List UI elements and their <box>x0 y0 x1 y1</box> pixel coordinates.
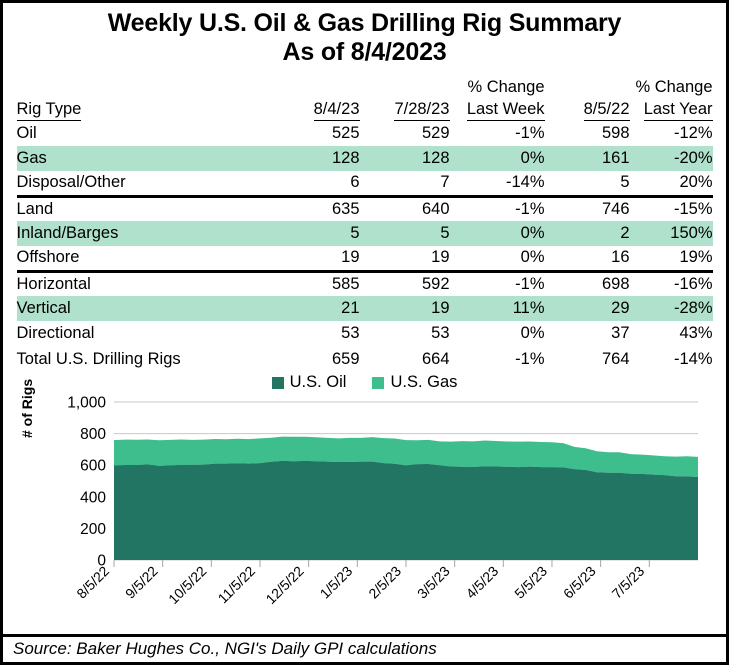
cell-label: Offshore <box>17 246 270 271</box>
chart-x-tick-label: 6/5/23 <box>560 563 599 602</box>
table-row: Horizontal585592-1%698-16% <box>17 271 713 296</box>
cell-chg-week: 0% <box>450 146 545 171</box>
header-date-current: 8/4/23 <box>270 97 360 121</box>
legend-label-oil: U.S. Oil <box>290 373 347 392</box>
cell-chg-week: 0% <box>450 246 545 271</box>
cell-label: Oil <box>17 121 270 146</box>
chart-x-tick-label: 5/5/23 <box>511 563 550 602</box>
cell-chg-week: 0% <box>450 221 545 246</box>
cell-label: Gas <box>17 146 270 171</box>
table-row: Vertical211911%29-28% <box>17 296 713 321</box>
chart-y-tick-label: 400 <box>80 489 106 506</box>
cell-chg-year: -14% <box>630 346 713 373</box>
header-top-pct-change-week: % Change <box>450 75 545 97</box>
chart-y-tick-label: 800 <box>80 426 106 443</box>
cell-cur: 128 <box>270 146 360 171</box>
cell-cur: 21 <box>270 296 360 321</box>
cell-label: Vertical <box>17 296 270 321</box>
header-date-previous: 7/28/23 <box>360 97 450 121</box>
header-top-blank-1 <box>17 75 270 97</box>
cell-year-ago: 764 <box>545 346 630 373</box>
chart-y-tick-label: 1,000 <box>67 395 106 412</box>
cell-cur: 5 <box>270 221 360 246</box>
chart-canvas: 02004006008001,0008/5/229/5/2210/5/2211/… <box>9 395 725 627</box>
chart-x-tick-label: 12/5/22 <box>262 563 306 607</box>
table-row: Gas1281280%161-20% <box>17 146 713 171</box>
legend-item-oil: U.S. Oil <box>272 373 347 392</box>
cell-chg-year: -28% <box>630 296 713 321</box>
cell-label: Inland/Barges <box>17 221 270 246</box>
stacked-area-chart: 02004006008001,0008/5/229/5/2210/5/2211/… <box>9 395 725 627</box>
chart-x-tick-label: 10/5/22 <box>165 563 209 607</box>
chart-x-tick-label: 9/5/22 <box>122 563 161 602</box>
chart-legend: U.S. Oil U.S. Gas <box>3 373 726 392</box>
chart-y-tick-label: 200 <box>80 521 106 538</box>
cell-prev: 640 <box>360 196 450 221</box>
cell-year-ago: 37 <box>545 321 630 346</box>
cell-cur: 585 <box>270 271 360 296</box>
chart-x-tick-label: 2/5/23 <box>365 563 404 602</box>
cell-year-ago: 698 <box>545 271 630 296</box>
cell-year-ago: 598 <box>545 121 630 146</box>
chart-area-oil <box>114 461 698 560</box>
chart-x-tick-label: 1/5/23 <box>317 563 356 602</box>
cell-cur: 53 <box>270 321 360 346</box>
cell-year-ago: 16 <box>545 246 630 271</box>
chart-x-tick-label: 11/5/22 <box>215 563 259 607</box>
cell-chg-week: -1% <box>450 346 545 373</box>
cell-label: Total U.S. Drilling Rigs <box>17 346 270 373</box>
cell-cur: 635 <box>270 196 360 221</box>
rig-summary-table: % Change % Change Rig Type 8/4/23 7/28/2… <box>17 75 713 373</box>
header-last-week: Last Week <box>450 97 545 121</box>
cell-year-ago: 2 <box>545 221 630 246</box>
cell-chg-year: 19% <box>630 246 713 271</box>
cell-prev: 53 <box>360 321 450 346</box>
cell-chg-year: -16% <box>630 271 713 296</box>
header-top-pct-change-year: % Change <box>630 75 713 97</box>
title-line-1: Weekly U.S. Oil & Gas Drilling Rig Summa… <box>3 9 726 38</box>
table-header-row-top: % Change % Change <box>17 75 713 97</box>
legend-swatch-oil <box>272 377 284 389</box>
table-body: Oil525529-1%598-12%Gas1281280%161-20%Dis… <box>17 121 713 373</box>
cell-prev: 5 <box>360 221 450 246</box>
cell-chg-year: -20% <box>630 146 713 171</box>
cell-label: Disposal/Other <box>17 171 270 196</box>
legend-swatch-gas <box>372 377 384 389</box>
table-row: Land635640-1%746-15% <box>17 196 713 221</box>
source-divider <box>3 634 726 637</box>
table-row: Oil525529-1%598-12% <box>17 121 713 146</box>
cell-prev: 592 <box>360 271 450 296</box>
table-head: % Change % Change Rig Type 8/4/23 7/28/2… <box>17 75 713 121</box>
header-top-blank-2 <box>270 75 360 97</box>
chart-x-tick-label: 4/5/23 <box>463 563 502 602</box>
cell-chg-week: 11% <box>450 296 545 321</box>
cell-chg-week: -1% <box>450 271 545 296</box>
cell-cur: 659 <box>270 346 360 373</box>
cell-chg-week: -1% <box>450 196 545 221</box>
chart-x-tick-label: 8/5/22 <box>73 563 112 602</box>
title-line-2: As of 8/4/2023 <box>3 38 726 67</box>
header-top-blank-3 <box>360 75 450 97</box>
cell-prev: 19 <box>360 296 450 321</box>
page-title: Weekly U.S. Oil & Gas Drilling Rig Summa… <box>3 3 726 67</box>
chart-x-tick-label: 7/5/23 <box>609 563 648 602</box>
table-header-row-bottom: Rig Type 8/4/23 7/28/23 Last Week 8/5/22… <box>17 97 713 121</box>
cell-prev: 7 <box>360 171 450 196</box>
cell-prev: 128 <box>360 146 450 171</box>
cell-prev: 19 <box>360 246 450 271</box>
cell-year-ago: 5 <box>545 171 630 196</box>
cell-chg-year: 150% <box>630 221 713 246</box>
legend-label-gas: U.S. Gas <box>390 373 457 392</box>
table-row: Inland/Barges550%2150% <box>17 221 713 246</box>
cell-chg-week: -14% <box>450 171 545 196</box>
cell-chg-year: 43% <box>630 321 713 346</box>
table-row: Directional53530%3743% <box>17 321 713 346</box>
cell-chg-year: 20% <box>630 171 713 196</box>
cell-chg-year: -12% <box>630 121 713 146</box>
cell-label: Horizontal <box>17 271 270 296</box>
header-last-year: Last Year <box>630 97 713 121</box>
header-date-year-ago: 8/5/22 <box>545 97 630 121</box>
cell-year-ago: 746 <box>545 196 630 221</box>
table-row: Disposal/Other67-14%520% <box>17 171 713 196</box>
source-note: Source: Baker Hughes Co., NGI's Daily GP… <box>13 639 437 659</box>
cell-chg-week: -1% <box>450 121 545 146</box>
cell-chg-week: 0% <box>450 321 545 346</box>
legend-item-gas: U.S. Gas <box>372 373 457 392</box>
cell-year-ago: 29 <box>545 296 630 321</box>
table-row-total: Total U.S. Drilling Rigs659664-1%764-14% <box>17 346 713 373</box>
cell-cur: 525 <box>270 121 360 146</box>
cell-prev: 664 <box>360 346 450 373</box>
header-rig-type: Rig Type <box>17 97 270 121</box>
table-row: Offshore19190%1619% <box>17 246 713 271</box>
cell-label: Land <box>17 196 270 221</box>
cell-cur: 6 <box>270 171 360 196</box>
cell-cur: 19 <box>270 246 360 271</box>
chart-x-tick-label: 3/5/23 <box>414 563 453 602</box>
cell-label: Directional <box>17 321 270 346</box>
cell-prev: 529 <box>360 121 450 146</box>
cell-chg-year: -15% <box>630 196 713 221</box>
rig-summary-report: Weekly U.S. Oil & Gas Drilling Rig Summa… <box>0 0 729 665</box>
header-top-blank-4 <box>545 75 630 97</box>
chart-y-tick-label: 600 <box>80 458 106 475</box>
cell-year-ago: 161 <box>545 146 630 171</box>
